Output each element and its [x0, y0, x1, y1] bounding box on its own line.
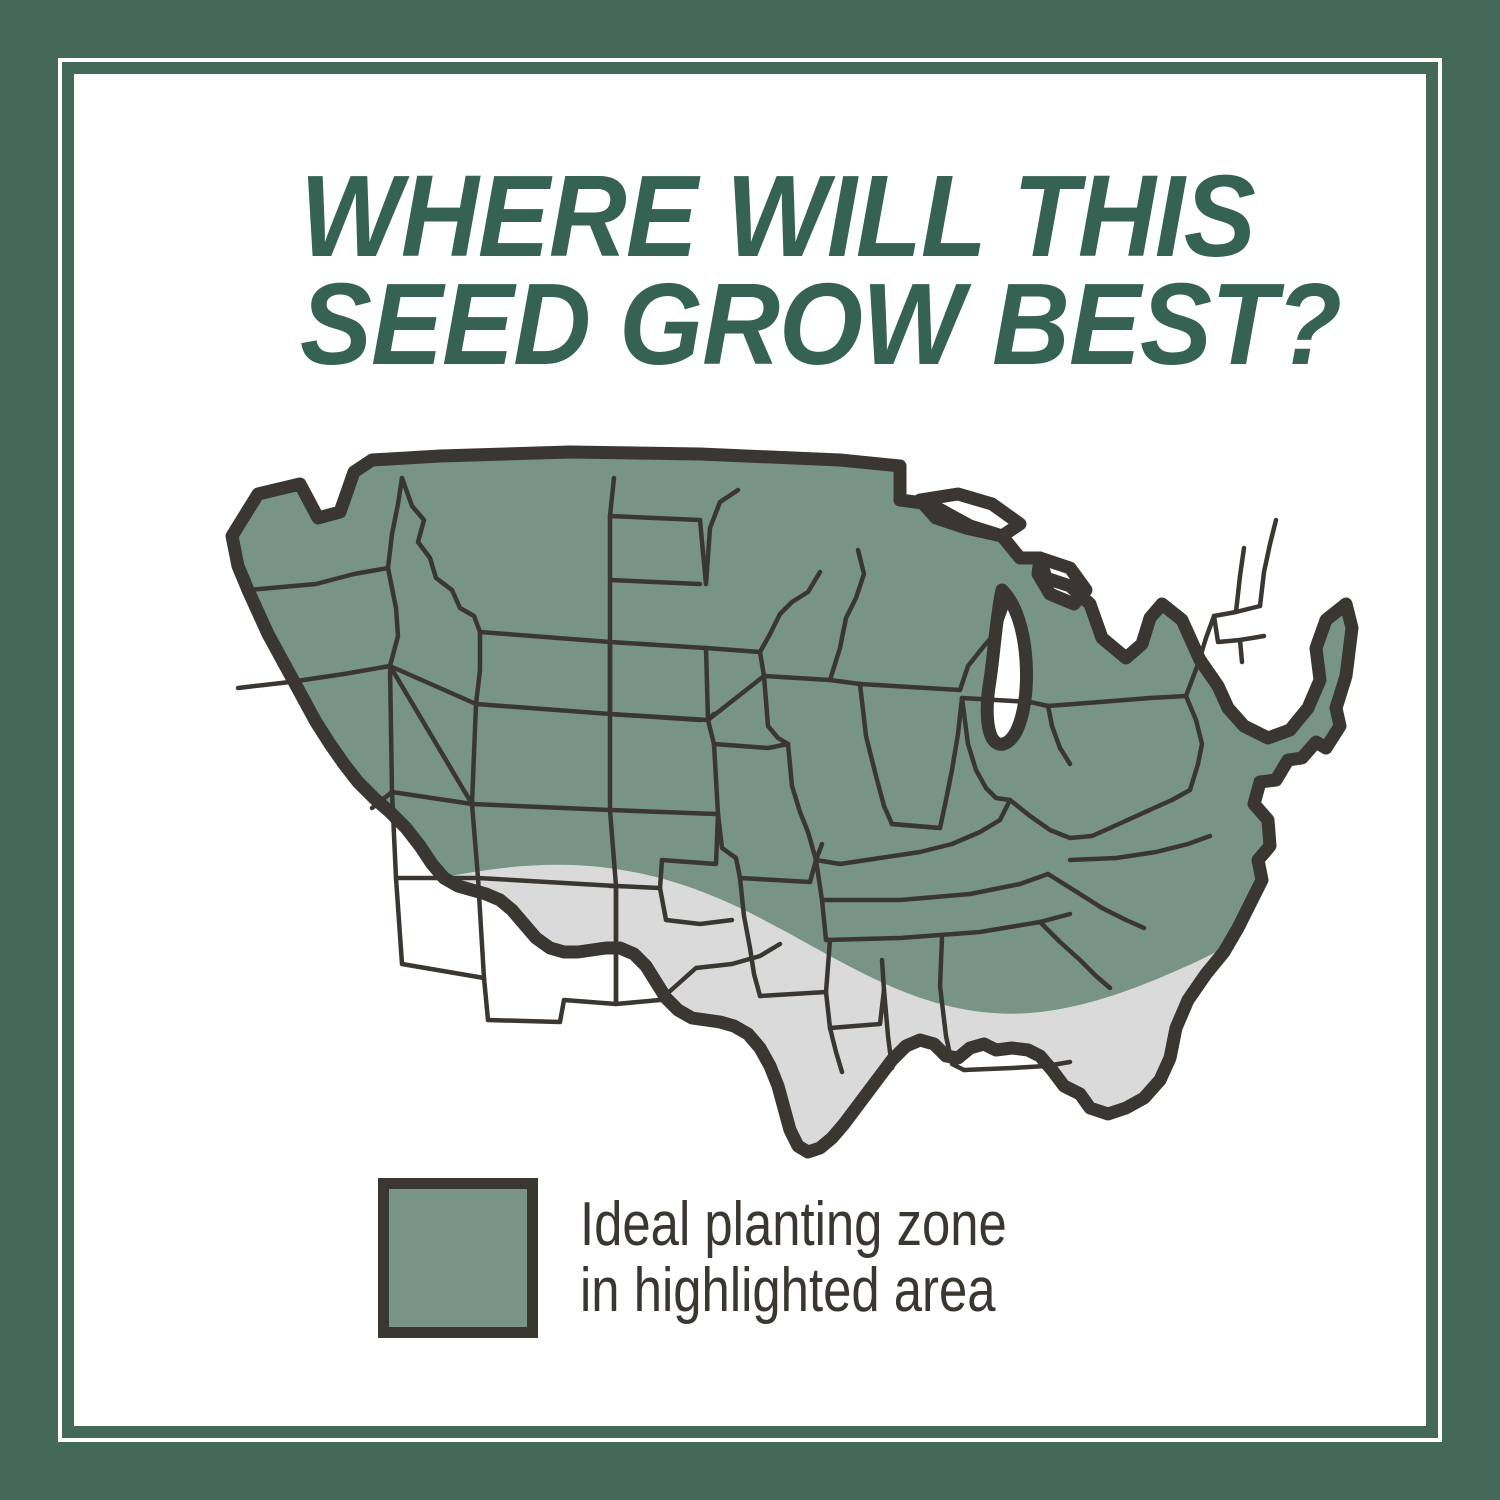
page-title: WHERE WILL THIS SEED GROW BEST? [300, 162, 1220, 378]
poster-canvas: WHERE WILL THIS SEED GROW BEST? [78, 78, 1422, 1422]
legend-label-line-1: Ideal planting zone [580, 1192, 1007, 1258]
title-line-1: WHERE WILL THIS [300, 162, 1156, 270]
poster-root: WHERE WILL THIS SEED GROW BEST? [0, 0, 1500, 1500]
us-map [140, 408, 1360, 1168]
legend-label: Ideal planting zone in highlighted area [580, 1192, 1007, 1324]
legend-color-swatch [378, 1178, 538, 1338]
title-line-2: SEED GROW BEST? [300, 270, 1156, 378]
us-map-svg [140, 408, 1360, 1168]
legend-label-line-2: in highlighted area [580, 1258, 1007, 1324]
map-legend: Ideal planting zone in highlighted area [378, 1178, 1101, 1338]
